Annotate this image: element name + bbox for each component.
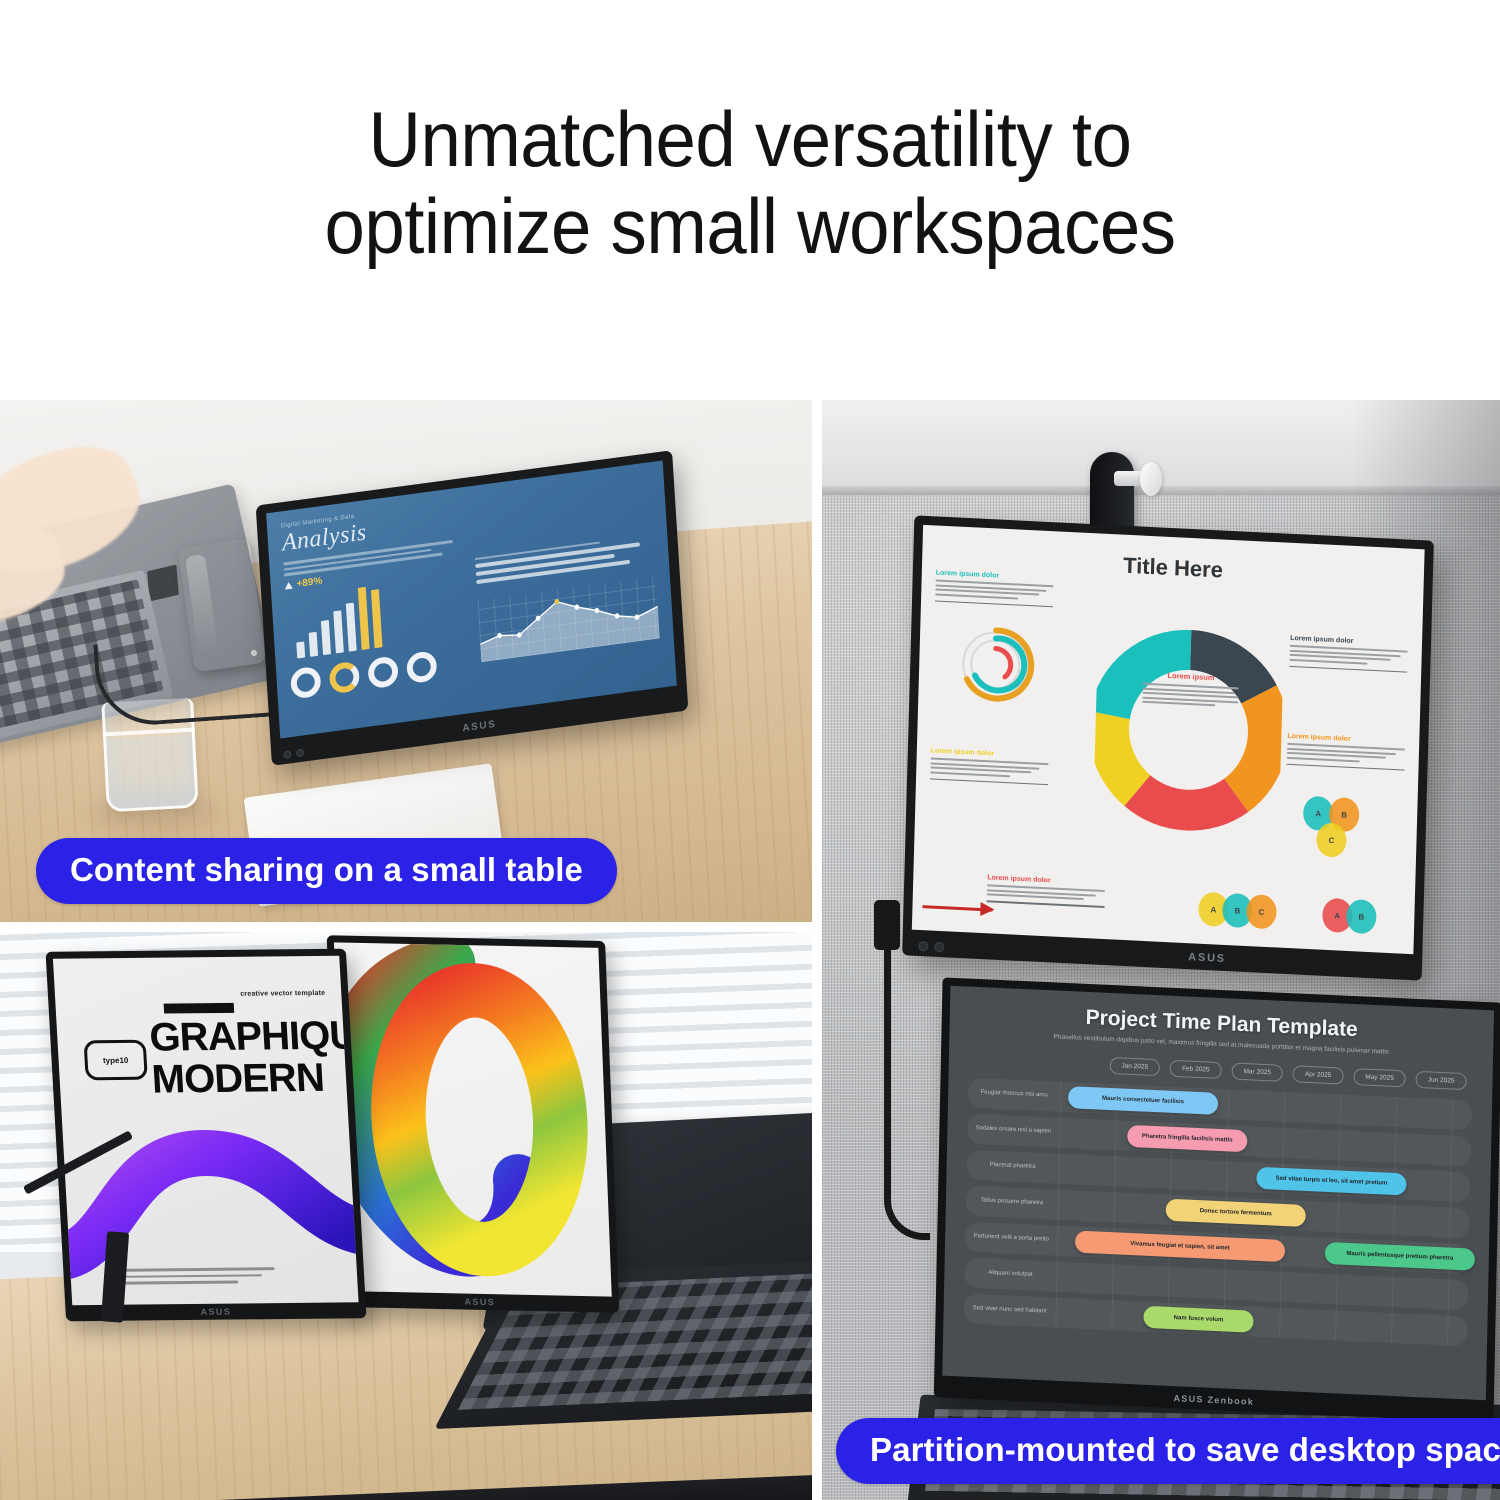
laptop-lid: Project Time Plan Template Phasellus ves… [934,977,1500,1422]
monitor-screen: Digital Marketing & Data Analysis +89% [266,460,677,738]
row-label: Aliquam volutpat [970,1269,1050,1280]
usb-c-cable [93,631,288,728]
row-label: Sed vitae nunc sed habitant [970,1305,1050,1316]
caption-content-sharing: Content sharing on a small table [36,838,617,904]
gantt-bar: Donec tortore fermentum [1166,1199,1306,1227]
note-underline [1287,764,1405,771]
row-label: Feugiat rhoncus nisi arcu [974,1089,1054,1100]
gantt-bar: Sed vitae turpis et leo, sit amet pretiu… [1256,1167,1406,1196]
project-time-plan-slide: Project Time Plan Template Phasellus ves… [942,986,1494,1401]
monitor-screen [334,942,612,1296]
analysis-dashboard: Digital Marketing & Data Analysis +89% [266,460,677,738]
portable-monitor-secondary: ASUS [327,935,620,1313]
month-pill: Apr 2025 [1293,1065,1344,1084]
trend-up-icon [284,581,292,589]
asus-logo: ASUS [1188,951,1226,965]
venn-diagram-1: A B C [1301,796,1401,885]
area-chart [478,576,660,662]
asus-logo: ASUS [464,1297,495,1308]
area-chart-svg [478,576,660,662]
callout-note-5: Lorem ipsum dolor [987,874,1106,907]
callout-note-1: Lorem ipsum dolor [935,569,1054,607]
note-underline [935,600,1053,607]
row-label: Parturient velit a porta pretio [971,1233,1051,1244]
month-pill: Jan 2025 [1109,1057,1160,1076]
bar [296,641,305,658]
dashboard-right-column [475,531,661,683]
month-pill: Jun 2025 [1416,1071,1467,1090]
bar [321,620,331,655]
title-here-slide: Title Here Lorem ipsum dolor Lorem ipsum… [912,525,1425,954]
laptop: Project Time Plan Template Phasellus ves… [934,977,1500,1422]
gantt-bar: Mauris consectetuer facilisis [1068,1086,1218,1115]
monitor-chassis: Digital Marketing & Data Analysis +89% [256,450,689,766]
portable-monitor-primary: type10 creative vector template GRAPHIQU… [46,949,367,1322]
mount-thumbscrew [1114,462,1160,496]
note-underline [987,900,1105,907]
gantt-bar: Vivamus feugiat et sapien, sit amet [1075,1231,1285,1263]
donut-gauge [406,650,438,684]
monitor-ports [918,941,944,952]
zenbook-logo: ASUS Zenbook [1173,1393,1254,1407]
marketing-image: Unmatched versatility to optimize small … [0,0,1500,1500]
venn-diagram-3: A B [1322,892,1401,942]
radial-chart [954,623,1036,707]
template-tag: creative vector template [240,990,325,998]
photo-content-sharing: Digital Marketing & Data Analysis +89% [0,400,812,922]
graphique-slide: type10 creative vector template GRAPHIQU… [53,956,359,1305]
usb-c-cable [884,940,930,1240]
red-arrow-icon [922,905,992,911]
thumbscrew-cap [1140,462,1162,496]
asus-logo: ASUS [200,1307,231,1317]
gantt-rows: Feugiat rhoncus nisi arcu Mauris consect… [963,1078,1472,1347]
bar [309,631,318,656]
portable-monitor-mounted: Title Here Lorem ipsum dolor Lorem ipsum… [902,515,1434,980]
page-title: Unmatched versatility to optimize small … [53,96,1448,271]
bar-highlighted [358,586,370,649]
month-pill: Feb 2025 [1170,1060,1222,1079]
graphique-title-line1: GRAPHIQUE [148,1017,358,1057]
callout-note-3: Lorem ipsum dolor [1287,733,1406,771]
monitor-chassis: Title Here Lorem ipsum dolor Lorem ipsum… [902,515,1434,980]
caption-partition-mounted: Partition-mounted to save desktop space [836,1418,1500,1484]
row-label: Tellus posuere pharetra [972,1197,1052,1208]
donut-gauge [290,665,322,699]
note-underline [930,778,1048,785]
note-underline [1289,666,1407,673]
gantt-bar: Pharetra fringilla facilisis mattis [1127,1125,1247,1152]
rainbow-ribbon-artwork [334,942,612,1296]
donut-center-text: Lorem ipsum [1136,670,1243,793]
callout-note-4: Lorem ipsum dolor [930,747,1049,785]
gantt-bar: Nam fusce volum [1143,1306,1253,1333]
gantt-bar: Mauris pellentesque pretium pharetra [1325,1242,1475,1271]
bar-highlighted [371,589,383,648]
type-badge: type10 [84,1040,148,1081]
monitor-screen: Title Here Lorem ipsum dolor Lorem ipsum… [912,525,1425,954]
month-pill: May 2025 [1353,1068,1406,1087]
slide-title: Title Here [1123,553,1223,584]
dashboard-left-column: +89% [284,556,470,708]
month-pill: Mar 2025 [1231,1063,1283,1082]
bar [346,602,357,651]
portable-monitor: Digital Marketing & Data Analysis +89% [256,450,689,766]
bar [333,610,344,653]
donut-chart: Lorem ipsum [1093,615,1285,844]
donut-gauge [367,655,399,689]
monitor-screen: type10 creative vector template GRAPHIQU… [53,956,359,1305]
photo-partition-mounted: Title Here Lorem ipsum dolor Lorem ipsum… [822,400,1500,1500]
photo-grid: Digital Marketing & Data Analysis +89% [0,400,1500,1500]
row-label: Placerat pharetra [973,1161,1053,1172]
asus-logo: ASUS [462,719,497,735]
graphique-title-line2: MODERN [151,1060,325,1099]
donut-gauge-highlighted [329,660,361,694]
monitor-ports [283,748,304,759]
dashboard-columns: +89% [284,531,661,708]
row-label: Sodales ornare nisl a sapien [973,1125,1053,1136]
callout-note-2: Lorem ipsum dolor [1289,635,1408,673]
divider-rule [164,1003,235,1014]
laptop-screen: Project Time Plan Template Phasellus ves… [942,986,1494,1401]
body-text-block [106,1263,275,1289]
venn-diagram-2: A B C [1198,886,1311,937]
photo-extended-monitor: ASUS type10 creative vector template GRA… [0,932,812,1500]
